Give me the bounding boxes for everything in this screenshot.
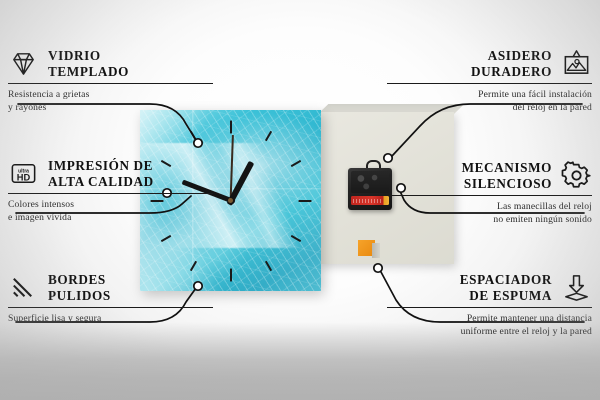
clock-tick bbox=[230, 268, 232, 281]
clock-center-pin bbox=[228, 198, 233, 203]
feature-desc-line2: uniforme entre el reloj y la pared bbox=[387, 326, 592, 339]
feature-title-line1: ESPACIADOR bbox=[460, 272, 552, 288]
feature-desc-line1: Las manecillas del reloj bbox=[387, 201, 592, 214]
feature-desc-line1: Permite mantener una distancia bbox=[387, 313, 592, 326]
infographic-canvas: VIDRIO TEMPLADO Resistencia a grietas y … bbox=[0, 0, 600, 400]
feature-asidero-duradero: ASIDERO DURADERO Permite una fácil insta… bbox=[387, 48, 592, 114]
feature-desc-line1: Superficie lisa y segura bbox=[8, 313, 213, 326]
feature-title-line2: PULIDOS bbox=[48, 288, 111, 304]
feature-bordes-pulidos: BORDES PULIDOS Superficie lisa y segura bbox=[8, 272, 213, 326]
feature-vidrio-templado: VIDRIO TEMPLADO Resistencia a grietas y … bbox=[8, 48, 213, 114]
foam-spacer-arrow-icon bbox=[561, 272, 592, 303]
feature-title: IMPRESIÓN DE ALTA CALIDAD bbox=[48, 158, 154, 189]
feature-description: Resistencia a grietas y rayones bbox=[8, 89, 213, 114]
feature-description: Permite una fácil instalación del reloj … bbox=[387, 89, 592, 114]
feature-desc-line2: no emiten ningún sonido bbox=[387, 214, 592, 227]
battery-label-stripes bbox=[353, 199, 383, 203]
feature-desc-line2: y rayones bbox=[8, 102, 213, 115]
gear-icon bbox=[561, 160, 592, 191]
feature-title: ASIDERO DURADERO bbox=[471, 48, 552, 79]
ultra-hd-badge-icon: ultra HD bbox=[8, 158, 39, 189]
clock-tick bbox=[230, 120, 232, 133]
feature-title: ESPACIADOR DE ESPUMA bbox=[460, 272, 552, 303]
clock-tick bbox=[264, 260, 271, 271]
feature-mecanismo-silencioso: MECANISMO SILENCIOSO Las manecillas del … bbox=[387, 160, 592, 226]
ultra-hd-bottom-label: HD bbox=[17, 172, 31, 182]
clock-tick bbox=[290, 159, 301, 166]
clock-tick bbox=[160, 234, 171, 241]
clock-tick bbox=[298, 200, 311, 202]
feature-header: MECANISMO SILENCIOSO bbox=[387, 160, 592, 191]
feature-desc-line1: Colores intensos bbox=[8, 199, 213, 212]
feature-header: ultra HD IMPRESIÓN DE ALTA CALIDAD bbox=[8, 158, 213, 189]
feature-title: MECANISMO SILENCIOSO bbox=[462, 160, 552, 191]
feature-divider bbox=[387, 307, 592, 308]
feature-title-line1: MECANISMO bbox=[462, 160, 552, 176]
feature-espaciador-de-espuma: ESPACIADOR DE ESPUMA Permite mantener un… bbox=[387, 272, 592, 338]
feature-description: Las manecillas del reloj no emiten ningú… bbox=[387, 201, 592, 226]
feature-title-line2: SILENCIOSO bbox=[462, 176, 552, 192]
picture-hanger-icon bbox=[561, 48, 592, 79]
clock-tick bbox=[189, 260, 196, 271]
feature-divider bbox=[8, 193, 213, 194]
feature-desc-line1: Permite una fácil instalación bbox=[387, 89, 592, 102]
feature-description: Superficie lisa y segura bbox=[8, 313, 213, 326]
clock-tick bbox=[189, 130, 196, 141]
connector-node-espaciador bbox=[374, 264, 382, 272]
feature-title-line2: ALTA CALIDAD bbox=[48, 174, 154, 190]
clock-tick bbox=[290, 234, 301, 241]
feature-title: BORDES PULIDOS bbox=[48, 272, 111, 303]
feature-desc-line2: del reloj en la pared bbox=[387, 102, 592, 115]
feature-title-line1: IMPRESIÓN DE bbox=[48, 158, 154, 174]
polished-edges-icon bbox=[8, 272, 39, 303]
feature-title-line2: TEMPLADO bbox=[48, 64, 129, 80]
feature-header: BORDES PULIDOS bbox=[8, 272, 213, 303]
feature-divider bbox=[8, 307, 213, 308]
feature-description: Permite mantener una distancia uniforme … bbox=[387, 313, 592, 338]
foam-spacer-shadow bbox=[372, 243, 380, 258]
feature-header: VIDRIO TEMPLADO bbox=[8, 48, 213, 79]
feature-desc-line1: Resistencia a grietas bbox=[8, 89, 213, 102]
feature-title-line1: VIDRIO bbox=[48, 48, 129, 64]
clock-tick bbox=[264, 130, 271, 141]
feature-divider bbox=[387, 83, 592, 84]
feature-impresion-alta-calidad: ultra HD IMPRESIÓN DE ALTA CALIDAD Color… bbox=[8, 158, 213, 224]
feature-title-line1: ASIDERO bbox=[471, 48, 552, 64]
feature-title-line2: DE ESPUMA bbox=[460, 288, 552, 304]
feature-desc-line2: e imagen vívida bbox=[8, 212, 213, 225]
diamond-icon bbox=[8, 48, 39, 79]
feature-divider bbox=[387, 195, 592, 196]
feature-title-line2: DURADERO bbox=[471, 64, 552, 80]
feature-divider bbox=[8, 83, 213, 84]
feature-title: VIDRIO TEMPLADO bbox=[48, 48, 129, 79]
feature-description: Colores intensos e imagen vívida bbox=[8, 199, 213, 224]
feature-header: ESPACIADOR DE ESPUMA bbox=[387, 272, 592, 303]
feature-header: ASIDERO DURADERO bbox=[387, 48, 592, 79]
feature-title-line1: BORDES bbox=[48, 272, 111, 288]
mechanism-detail bbox=[351, 171, 389, 193]
